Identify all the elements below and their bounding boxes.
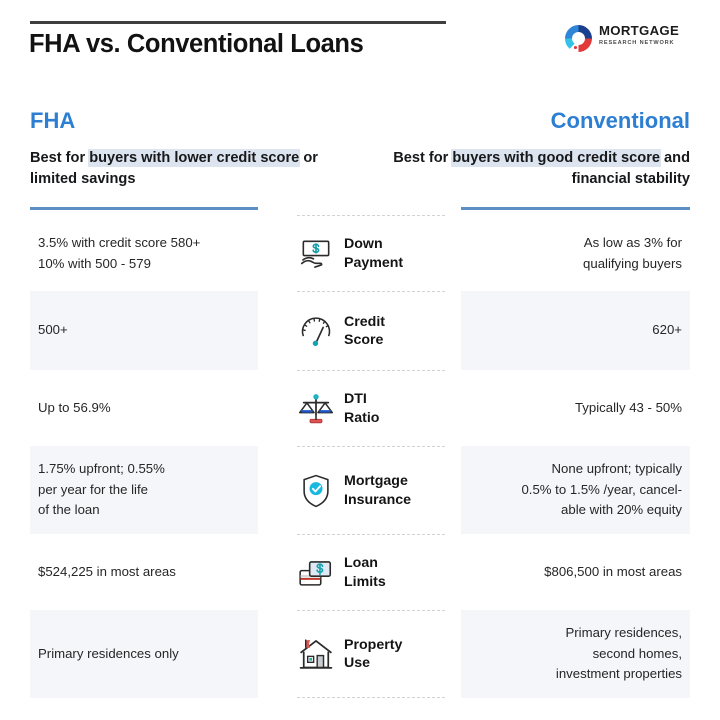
subtitle-text: Best for [393, 150, 452, 166]
row-category-label: LoanLimits [344, 554, 386, 591]
cell-fha-value: 1.75% upfront; 0.55%per year for the lif… [38, 459, 250, 521]
table-row: 500+620+ CreditScore [0, 291, 720, 370]
cell-fha-value: Up to 56.9% [38, 398, 250, 419]
column-title-conventional: Conventional [551, 108, 690, 134]
cell-fha-value: Primary residences only [38, 644, 250, 665]
column-rule-conventional [461, 207, 690, 210]
row-category: DownPayment [297, 215, 445, 291]
column-subtitle-fha: Best for buyers with lower credit score … [30, 148, 330, 190]
credit-score-gauge-icon [297, 312, 335, 350]
cell-conventional: 620+ [461, 291, 690, 370]
row-category-label-line1: DTI [344, 390, 379, 409]
row-category-label-line1: Loan [344, 554, 386, 573]
property-use-house-icon [297, 635, 335, 673]
table-row: Primary residences onlyPrimary residence… [0, 610, 720, 698]
cell-conventional-value: None upfront; typically0.5% to 1.5% /yea… [469, 459, 682, 521]
comparison-table: 3.5% with credit score 580+10% with 500 … [0, 215, 720, 698]
subtitle-text: Best for [30, 150, 89, 166]
cell-conventional: Primary residences,second homes,investme… [461, 610, 690, 698]
row-category-label-line2: Payment [344, 254, 403, 273]
cell-conventional-value: As low as 3% forqualifying buyers [469, 233, 682, 274]
down-payment-icon [297, 235, 335, 273]
loan-limits-cards-icon [297, 554, 335, 592]
cell-fha: Primary residences only [30, 610, 258, 698]
cell-fha: Up to 56.9% [30, 370, 258, 446]
row-category: DTIRatio [297, 370, 445, 446]
row-category-label-line1: Down [344, 235, 403, 254]
cell-conventional: As low as 3% forqualifying buyers [461, 215, 690, 291]
subtitle-highlight: buyers with good credit score [452, 150, 660, 166]
table-row: Up to 56.9%Typically 43 - 50% DTIRatio [0, 370, 720, 446]
row-category-label-line2: Use [344, 654, 402, 673]
row-category: MortgageInsurance [297, 446, 445, 534]
table-row: $524,225 in most areas$806,500 in most a… [0, 534, 720, 610]
cell-conventional: None upfront; typically0.5% to 1.5% /yea… [461, 446, 690, 534]
cell-fha: $524,225 in most areas [30, 534, 258, 610]
cell-conventional: $806,500 in most areas [461, 534, 690, 610]
cell-fha-value: $524,225 in most areas [38, 562, 250, 583]
cell-conventional-value: Primary residences,second homes,investme… [469, 623, 682, 685]
brand-tagline: RESEARCH NETWORK [599, 39, 679, 48]
column-rule-fha [30, 207, 258, 210]
mortgage-insurance-shield-icon [297, 472, 335, 510]
row-category: PropertyUse [297, 610, 445, 698]
row-category-label-line2: Score [344, 331, 385, 350]
cell-conventional-value: $806,500 in most areas [469, 562, 682, 583]
row-category-label-line2: Limits [344, 573, 386, 592]
mortgage-gauge-logo-icon [563, 23, 594, 54]
row-category-label: MortgageInsurance [344, 472, 411, 509]
row-category-label: PropertyUse [344, 636, 402, 673]
page-title: FHA vs. Conventional Loans [29, 27, 499, 61]
cell-fha-value: 500+ [38, 320, 250, 341]
row-category-label-line1: Mortgage [344, 472, 411, 491]
row-category-label: DTIRatio [344, 390, 379, 427]
header: FHA vs. Conventional Loans MORTGAGE RESE… [0, 0, 720, 90]
brand-logo: MORTGAGE RESEARCH NETWORK [563, 22, 711, 56]
cell-fha: 1.75% upfront; 0.55%per year for the lif… [30, 446, 258, 534]
row-category-label-line2: Ratio [344, 409, 379, 428]
cell-conventional: Typically 43 - 50% [461, 370, 690, 446]
column-headers: FHA Best for buyers with lower credit sc… [0, 100, 720, 210]
dti-scale-icon [297, 390, 335, 428]
column-subtitle-conventional: Best for buyers with good credit score a… [390, 148, 690, 190]
title-divider-rule [30, 21, 446, 24]
cell-fha: 3.5% with credit score 580+10% with 500 … [30, 215, 258, 291]
row-category-label-line1: Credit [344, 313, 385, 332]
brand-name: MORTGAGE [599, 24, 679, 38]
row-category-label: DownPayment [344, 235, 403, 272]
row-category-label-line2: Insurance [344, 491, 411, 510]
table-row: 3.5% with credit score 580+10% with 500 … [0, 215, 720, 291]
subtitle-highlight: buyers with lower credit score [89, 150, 299, 166]
cell-fha: 500+ [30, 291, 258, 370]
cell-conventional-value: Typically 43 - 50% [469, 398, 682, 419]
row-category-label: CreditScore [344, 313, 385, 350]
column-title-fha: FHA [30, 108, 75, 134]
brand-wordmark: MORTGAGE RESEARCH NETWORK [599, 24, 679, 48]
row-category: CreditScore [297, 291, 445, 370]
table-row: 1.75% upfront; 0.55%per year for the lif… [0, 446, 720, 534]
cell-fha-value: 3.5% with credit score 580+10% with 500 … [38, 233, 250, 274]
row-category-label-line1: Property [344, 636, 402, 655]
cell-conventional-value: 620+ [469, 320, 682, 341]
row-category: LoanLimits [297, 534, 445, 610]
